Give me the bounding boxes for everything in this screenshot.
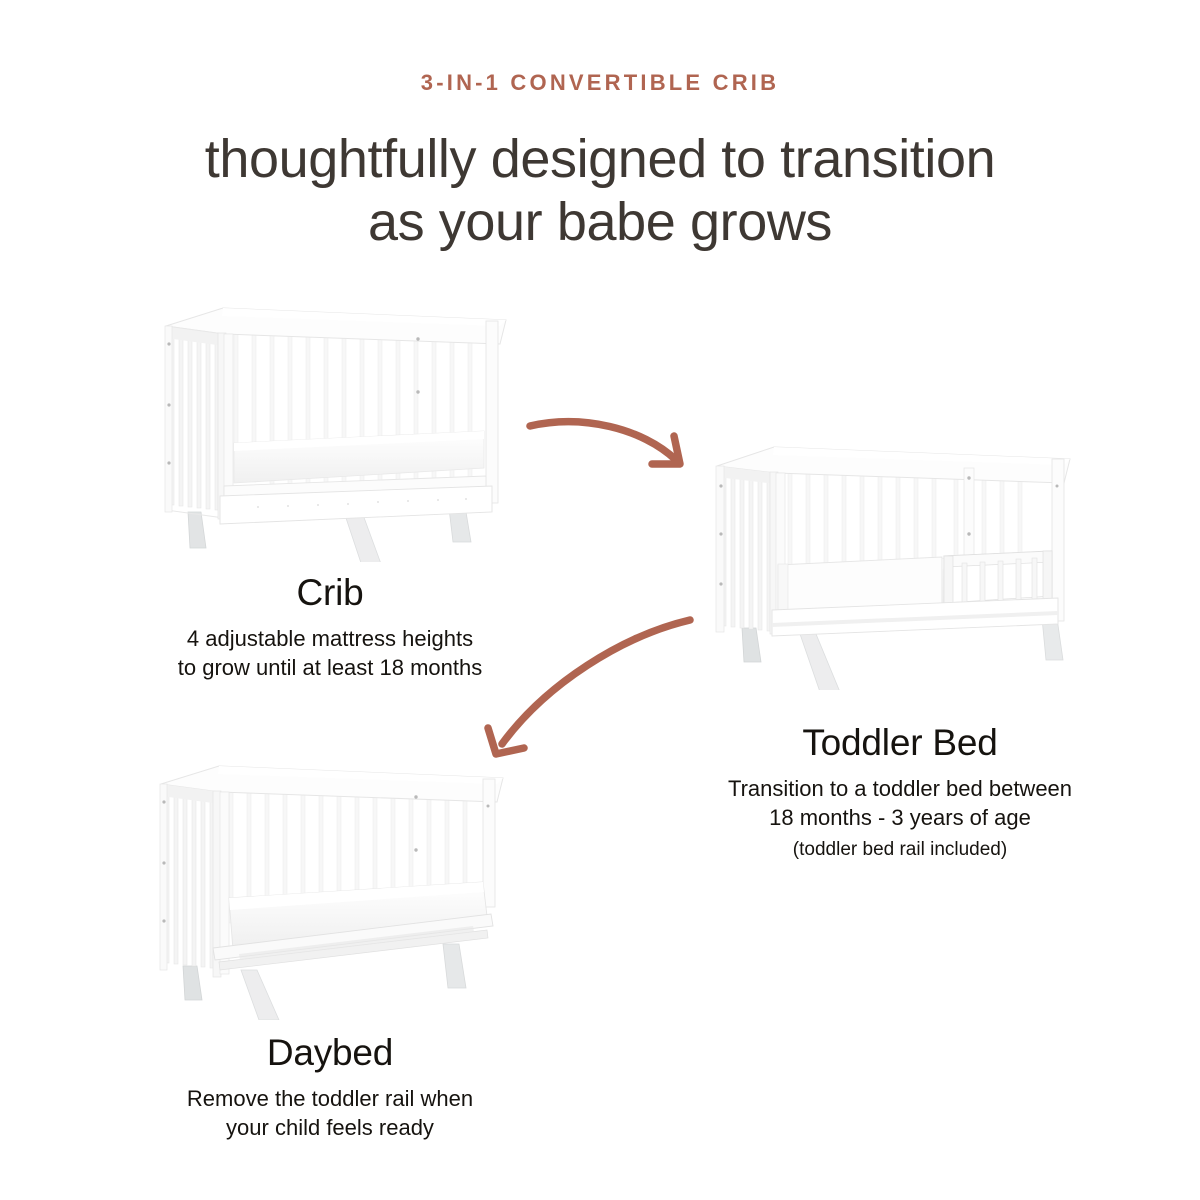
page-title: thoughtfully designed to transition as y… [0, 128, 1200, 253]
crib-illustration [148, 300, 526, 562]
toddler-bed-note: (toddler bed rail included) [660, 838, 1140, 863]
daybed-description: Remove the toddler rail when your child … [90, 1084, 570, 1142]
eyebrow-label: 3-IN-1 CONVERTIBLE CRIB [0, 70, 1200, 96]
daybed-description-line-1: Remove the toddler rail when [90, 1084, 570, 1113]
toddler-bed-title: Toddler Bed [660, 722, 1140, 765]
daybed-image [143, 758, 531, 1020]
crib-image [148, 300, 526, 562]
toddler-bed-description: Transition to a toddler bed between 18 m… [660, 774, 1140, 832]
daybed-caption: Daybed Remove the toddler rail when your… [90, 1032, 570, 1142]
toddler-bed-description-line-2: 18 months - 3 years of age [660, 803, 1140, 832]
daybed-title: Daybed [90, 1032, 570, 1075]
page-title-line-2: as your babe grows [0, 191, 1200, 254]
daybed-illustration [143, 758, 531, 1020]
curved-arrow-icon-crib-to-toddler [524, 402, 714, 492]
toddler-bed-illustration [692, 438, 1092, 690]
curved-arrow-icon-toddler-to-daybed [462, 588, 698, 770]
toddler-bed-image [692, 438, 1092, 690]
page-title-line-1: thoughtfully designed to transition [0, 128, 1200, 191]
toddler-bed-caption: Toddler Bed Transition to a toddler bed … [660, 722, 1140, 862]
daybed-description-line-2: your child feels ready [90, 1113, 570, 1142]
toddler-bed-description-line-1: Transition to a toddler bed between [660, 774, 1140, 803]
